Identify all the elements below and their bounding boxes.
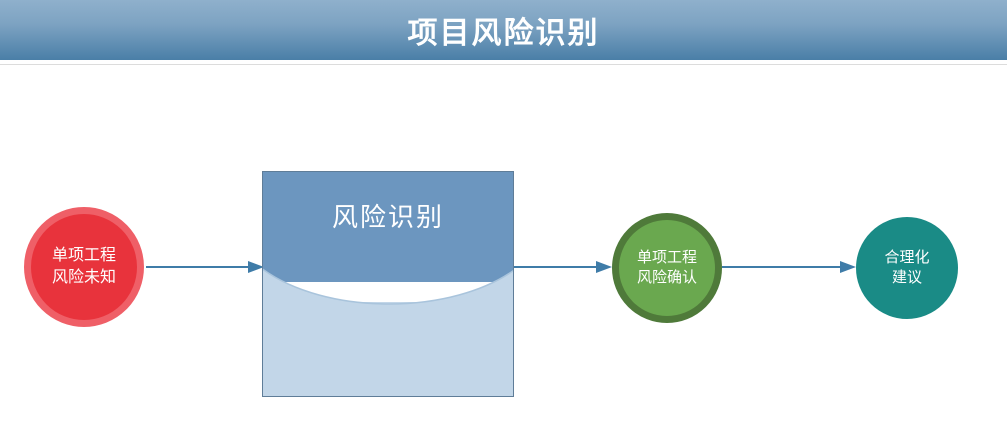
connector-arrow-1 xyxy=(146,260,266,274)
slide-page: 项目风险识别 单项工程 风险未知 风险识别 xyxy=(0,0,1007,444)
page-title: 项目风险识别 xyxy=(0,0,1007,60)
connector-arrow-2 xyxy=(514,260,614,274)
slide-title-bar: 项目风险识别 xyxy=(0,0,1007,62)
diagram-node-risk-confirmed[interactable]: 单项工程 风险确认 xyxy=(612,213,722,323)
diagram-node-label: 合理化 建议 xyxy=(884,248,929,289)
rect-wave-divider xyxy=(262,264,514,324)
diagram-node-label: 单项工程 风险未知 xyxy=(52,245,116,288)
diagram-canvas: 单项工程 风险未知 风险识别 xyxy=(0,64,1007,444)
diagram-node-label: 单项工程 风险确认 xyxy=(637,248,697,289)
diagram-node-label: 风险识别 xyxy=(332,200,444,235)
diagram-node-rationalized-advice[interactable]: 合理化 建议 xyxy=(856,217,958,319)
connector-arrow-3 xyxy=(722,260,858,274)
diagram-node-risk-unknown[interactable]: 单项工程 风险未知 xyxy=(24,207,144,327)
diagram-node-risk-identification[interactable]: 风险识别 xyxy=(262,171,514,397)
